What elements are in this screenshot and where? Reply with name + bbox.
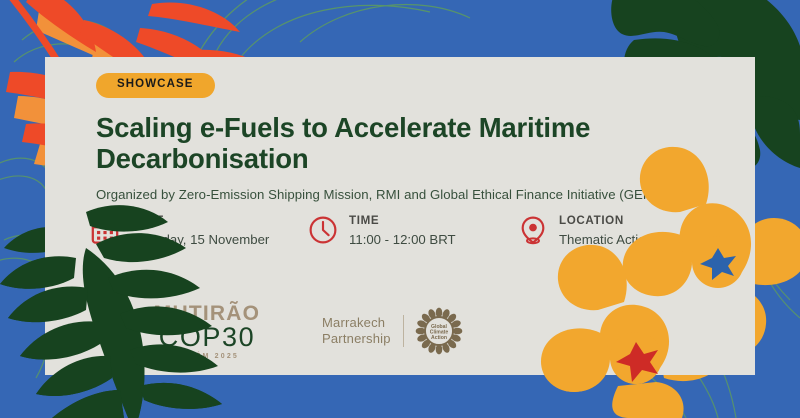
meta-text-location: LOCATION Thematic Action Room 4 (559, 214, 703, 247)
meta-value-time: 11:00 - 12:00 BRT (349, 232, 456, 247)
meta-value-date: Saturday, 15 November (131, 232, 269, 247)
meta-label-date: DATE (131, 215, 269, 228)
meta-text-date: DATE Saturday, 15 November (131, 214, 269, 247)
seal-line3: Action (431, 335, 447, 341)
marrakech-partnership-line2: Partnership (322, 331, 391, 347)
event-card: SHOWCASE Scaling e-Fuels to Accelerate M… (45, 57, 755, 375)
meta-item-location: LOCATION Thematic Action Room 4 (518, 214, 758, 247)
meta-label-location: LOCATION (559, 215, 703, 228)
marrakech-partnership-logo: Marrakech Partnership (322, 307, 463, 355)
event-organizers: Organized by Zero-Emission Shipping Miss… (96, 187, 731, 202)
showcase-badge: SHOWCASE (96, 73, 215, 98)
event-title: Scaling e-Fuels to Accelerate Maritime D… (96, 112, 696, 176)
logo-row: MUTIRÃO COP30 BELÉM 2025 Marrakech Partn… (115, 300, 463, 362)
cop30-logo-cop30: COP30 (159, 322, 256, 352)
event-meta-row: DATE Saturday, 15 November TIME 11:00 - … (90, 214, 770, 247)
location-pin-icon (518, 215, 548, 245)
global-climate-action-seal: Global Climate Action (415, 307, 463, 355)
clock-icon (308, 215, 338, 245)
marrakech-partnership-text: Marrakech Partnership (322, 315, 404, 347)
meta-label-time: TIME (349, 215, 456, 228)
meta-item-time: TIME 11:00 - 12:00 BRT (308, 214, 518, 247)
meta-text-time: TIME 11:00 - 12:00 BRT (349, 214, 456, 247)
cop30-logo-belem: BELÉM 2025 (175, 351, 239, 360)
meta-value-location: Thematic Action Room 4 (559, 232, 703, 247)
meta-item-date: DATE Saturday, 15 November (90, 214, 308, 247)
marrakech-partnership-line1: Marrakech (322, 315, 391, 331)
event-card-content: SHOWCASE Scaling e-Fuels to Accelerate M… (96, 73, 731, 202)
calendar-icon (90, 215, 120, 245)
cop30-logo: MUTIRÃO COP30 BELÉM 2025 (115, 300, 300, 362)
poster-canvas: SHOWCASE Scaling e-Fuels to Accelerate M… (0, 0, 800, 418)
